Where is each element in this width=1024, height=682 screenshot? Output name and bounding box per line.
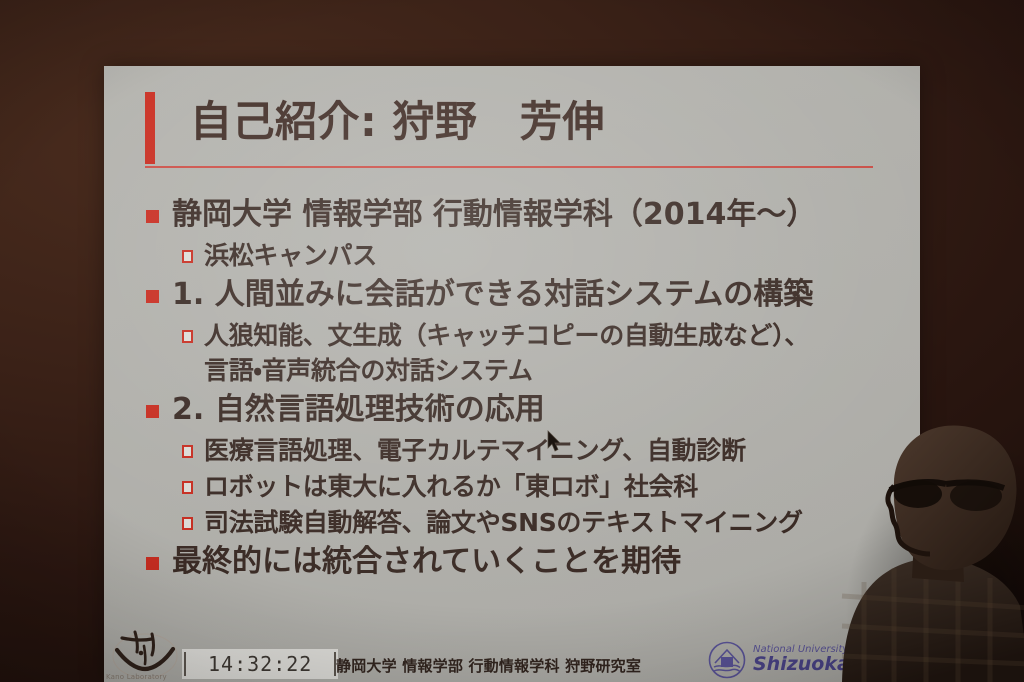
shizuoka-university-mark	[708, 641, 746, 679]
title-divider-rule	[145, 166, 873, 168]
timestamp-value: 14:32:22	[186, 652, 334, 676]
screenshot-stage: 自己紹介: 狩野 芳伸 静岡大学 情報学部 行動情報学科（2014年～）浜松キャ…	[0, 0, 1024, 682]
hollow-square-bullet	[182, 517, 193, 530]
bullet-text: 浜松キャンパス	[204, 238, 377, 273]
slide-footer: Kano Laboratory 14:32:22 静岡大学 情報学部 行動情報学…	[104, 626, 920, 682]
projected-slide: 自己紹介: 狩野 芳伸 静岡大学 情報学部 行動情報学科（2014年～）浜松キャ…	[104, 66, 920, 682]
hollow-square-bullet	[182, 445, 193, 458]
bullet-row: 2. 自然言語処理技術の応用	[104, 389, 920, 431]
bullet-row: 医療言語処理、電子カルテマイニング、自動診断	[104, 433, 920, 468]
shizuoka-university-wordmark: National University Corporation Shizuoka…	[753, 645, 920, 675]
hollow-square-bullet	[182, 481, 193, 494]
bullet-text: 医療言語処理、電子カルテマイニング、自動診断	[204, 433, 746, 468]
bullet-text: 司法試験自動解答、論文やSNSのテキストマイニング	[204, 505, 803, 540]
timestamp-overlay: 14:32:22	[182, 649, 338, 679]
bullet-text: ロボットは東大に入れるか「東ロボ」社会科	[204, 469, 698, 504]
title-accent-bar	[145, 92, 155, 164]
bullet-row: 1. 人間並みに会話ができる対話システムの構築	[104, 274, 920, 316]
bullet-text: 人狼知能、文生成（キャッチコピーの自動生成など）、 言語・音声統合の対話システム	[204, 318, 809, 388]
shizuoka-university-logo: National University Corporation Shizuoka…	[708, 641, 920, 679]
bullet-text: 2. 自然言語処理技術の応用	[172, 389, 545, 431]
hollow-square-bullet	[182, 250, 193, 263]
hollow-square-bullet	[182, 330, 193, 343]
bullet-row: 浜松キャンパス	[104, 238, 920, 273]
filled-square-bullet	[146, 405, 159, 418]
bullet-text: 静岡大学 情報学部 行動情報学科（2014年～）	[172, 194, 816, 236]
bullet-row: 最終的には統合されていくことを期待	[104, 541, 920, 583]
bullet-row: 静岡大学 情報学部 行動情報学科（2014年～）	[104, 194, 920, 236]
bullet-row: 司法試験自動解答、論文やSNSのテキストマイニング	[104, 505, 920, 540]
filled-square-bullet	[146, 290, 159, 303]
bullet-text: 最終的には統合されていくことを期待	[172, 541, 681, 583]
kano-laboratory-caption: Kano Laboratory	[106, 673, 167, 681]
footer-affiliation: 静岡大学 情報学部 行動情報学科 狩野研究室	[336, 655, 641, 676]
bullet-row: ロボットは東大に入れるか「東ロボ」社会科	[104, 469, 920, 504]
slide-bullet-list: 静岡大学 情報学部 行動情報学科（2014年～）浜松キャンパス1. 人間並みに会…	[104, 194, 920, 585]
shizuoka-university-line2: Shizuoka University	[753, 655, 920, 675]
bullet-text: 1. 人間並みに会話ができる対話システムの構築	[172, 274, 813, 316]
filled-square-bullet	[146, 557, 159, 570]
filled-square-bullet	[146, 210, 159, 223]
page-title: 自己紹介: 狩野 芳伸	[190, 99, 605, 145]
bullet-row: 人狼知能、文生成（キャッチコピーの自動生成など）、 言語・音声統合の対話システム	[104, 318, 920, 388]
